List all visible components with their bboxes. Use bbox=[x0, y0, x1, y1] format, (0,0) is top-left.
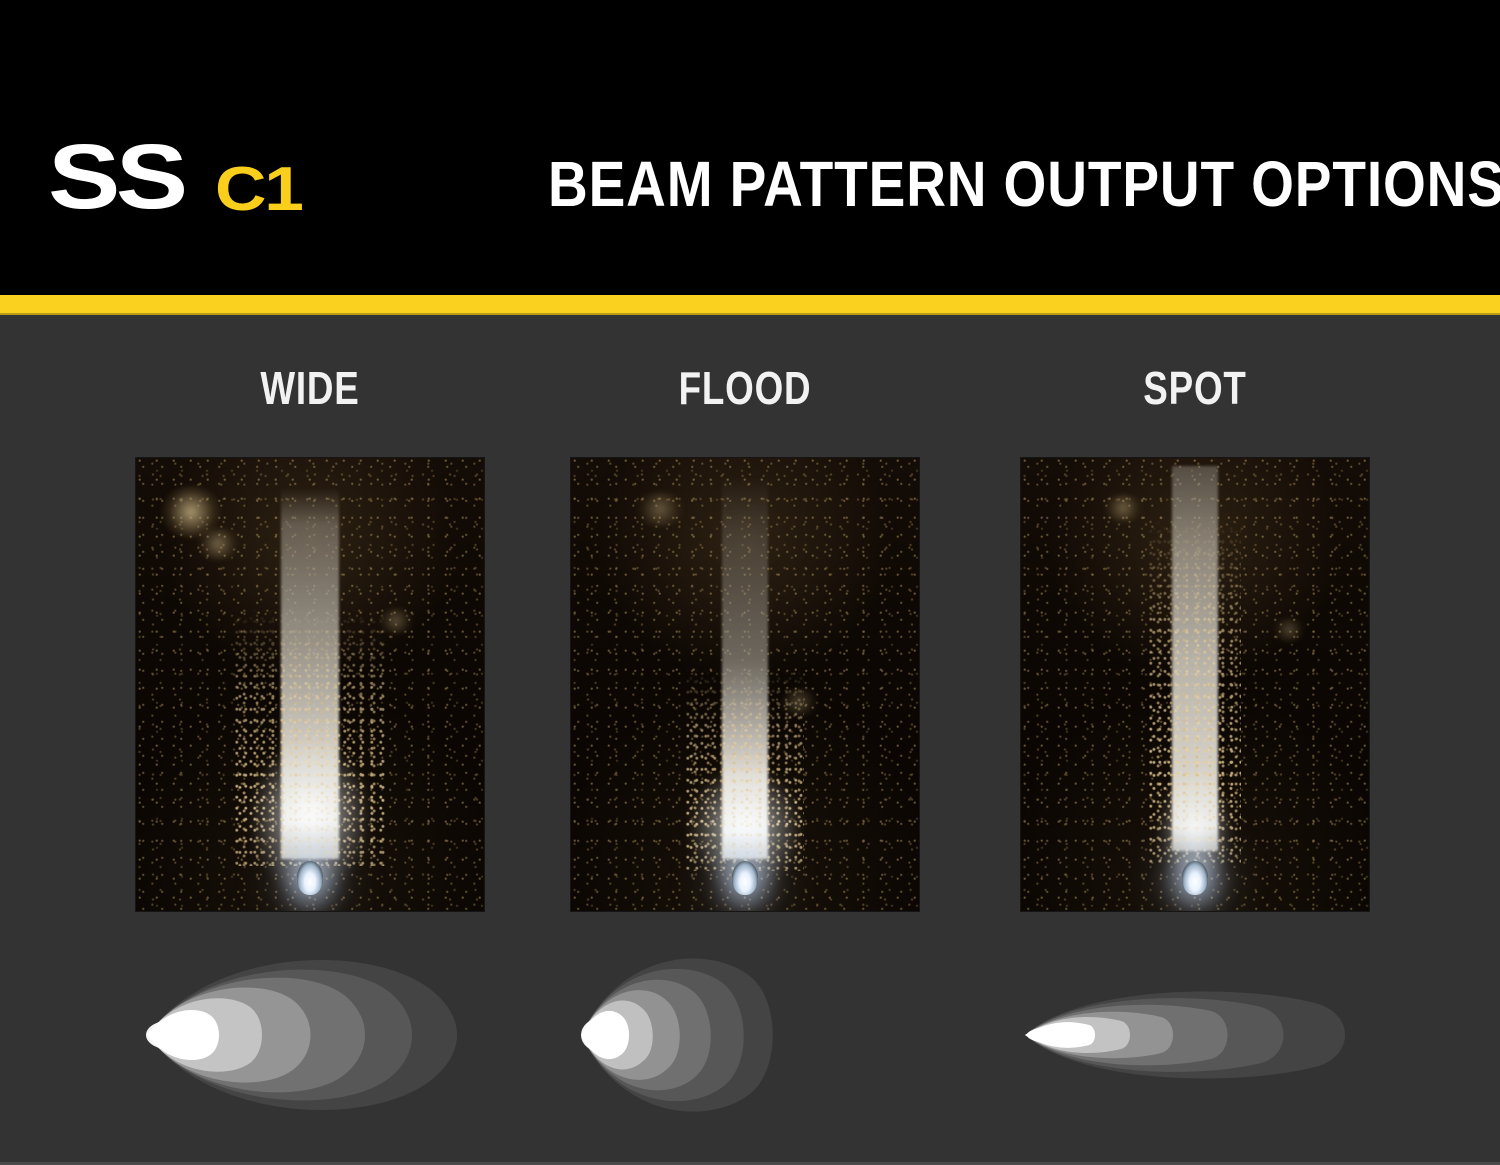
header-bar: SS C1 BEAM PATTERN OUTPUT OPTIONS bbox=[0, 0, 1500, 295]
beam-photo-wide bbox=[135, 457, 485, 912]
beam-diagram-spot-svg bbox=[1015, 955, 1375, 1115]
logo-sub-text: C1 bbox=[215, 159, 302, 221]
photo-brush-patch bbox=[777, 688, 821, 716]
beam-diagram-flood bbox=[565, 955, 925, 1115]
logo-main-text: SS bbox=[48, 131, 183, 223]
beam-photo-spot bbox=[1020, 457, 1370, 912]
photo-light-source bbox=[732, 861, 758, 895]
beam-hotspot bbox=[1027, 1026, 1091, 1044]
beam-label-spot: SPOT bbox=[1051, 365, 1339, 411]
page-title: BEAM PATTERN OUTPUT OPTIONS bbox=[548, 152, 1500, 216]
photo-brush-patch bbox=[633, 492, 687, 526]
beam-hotspot bbox=[146, 1020, 198, 1050]
beam-hotspot bbox=[581, 1018, 621, 1052]
photo-brush-patch bbox=[1101, 494, 1145, 522]
beam-photo-flood bbox=[570, 457, 920, 912]
beam-diagram-wide-svg bbox=[130, 955, 490, 1115]
beam-label-wide: WIDE bbox=[166, 365, 454, 411]
photo-light-source bbox=[297, 861, 323, 895]
beam-lobes bbox=[146, 960, 457, 1110]
photo-light-source bbox=[1182, 861, 1208, 895]
beam-columns: WIDE bbox=[0, 315, 1500, 1165]
photo-brush-patch bbox=[194, 528, 242, 560]
beam-diagram-wide bbox=[130, 955, 490, 1115]
accent-divider-bar bbox=[0, 295, 1500, 315]
beam-diagram-flood-svg bbox=[565, 955, 925, 1115]
photo-brush-patch bbox=[376, 608, 416, 634]
beam-label-flood: FLOOD bbox=[601, 365, 889, 411]
beam-lobes bbox=[1025, 991, 1345, 1078]
photo-brush-patch bbox=[1271, 618, 1307, 642]
beam-diagram-spot bbox=[1015, 955, 1375, 1115]
beam-pattern-infographic: SS C1 BEAM PATTERN OUTPUT OPTIONS WIDE bbox=[0, 0, 1500, 1165]
beam-lobes bbox=[581, 958, 773, 1111]
brand-logo: SS C1 bbox=[48, 131, 290, 223]
